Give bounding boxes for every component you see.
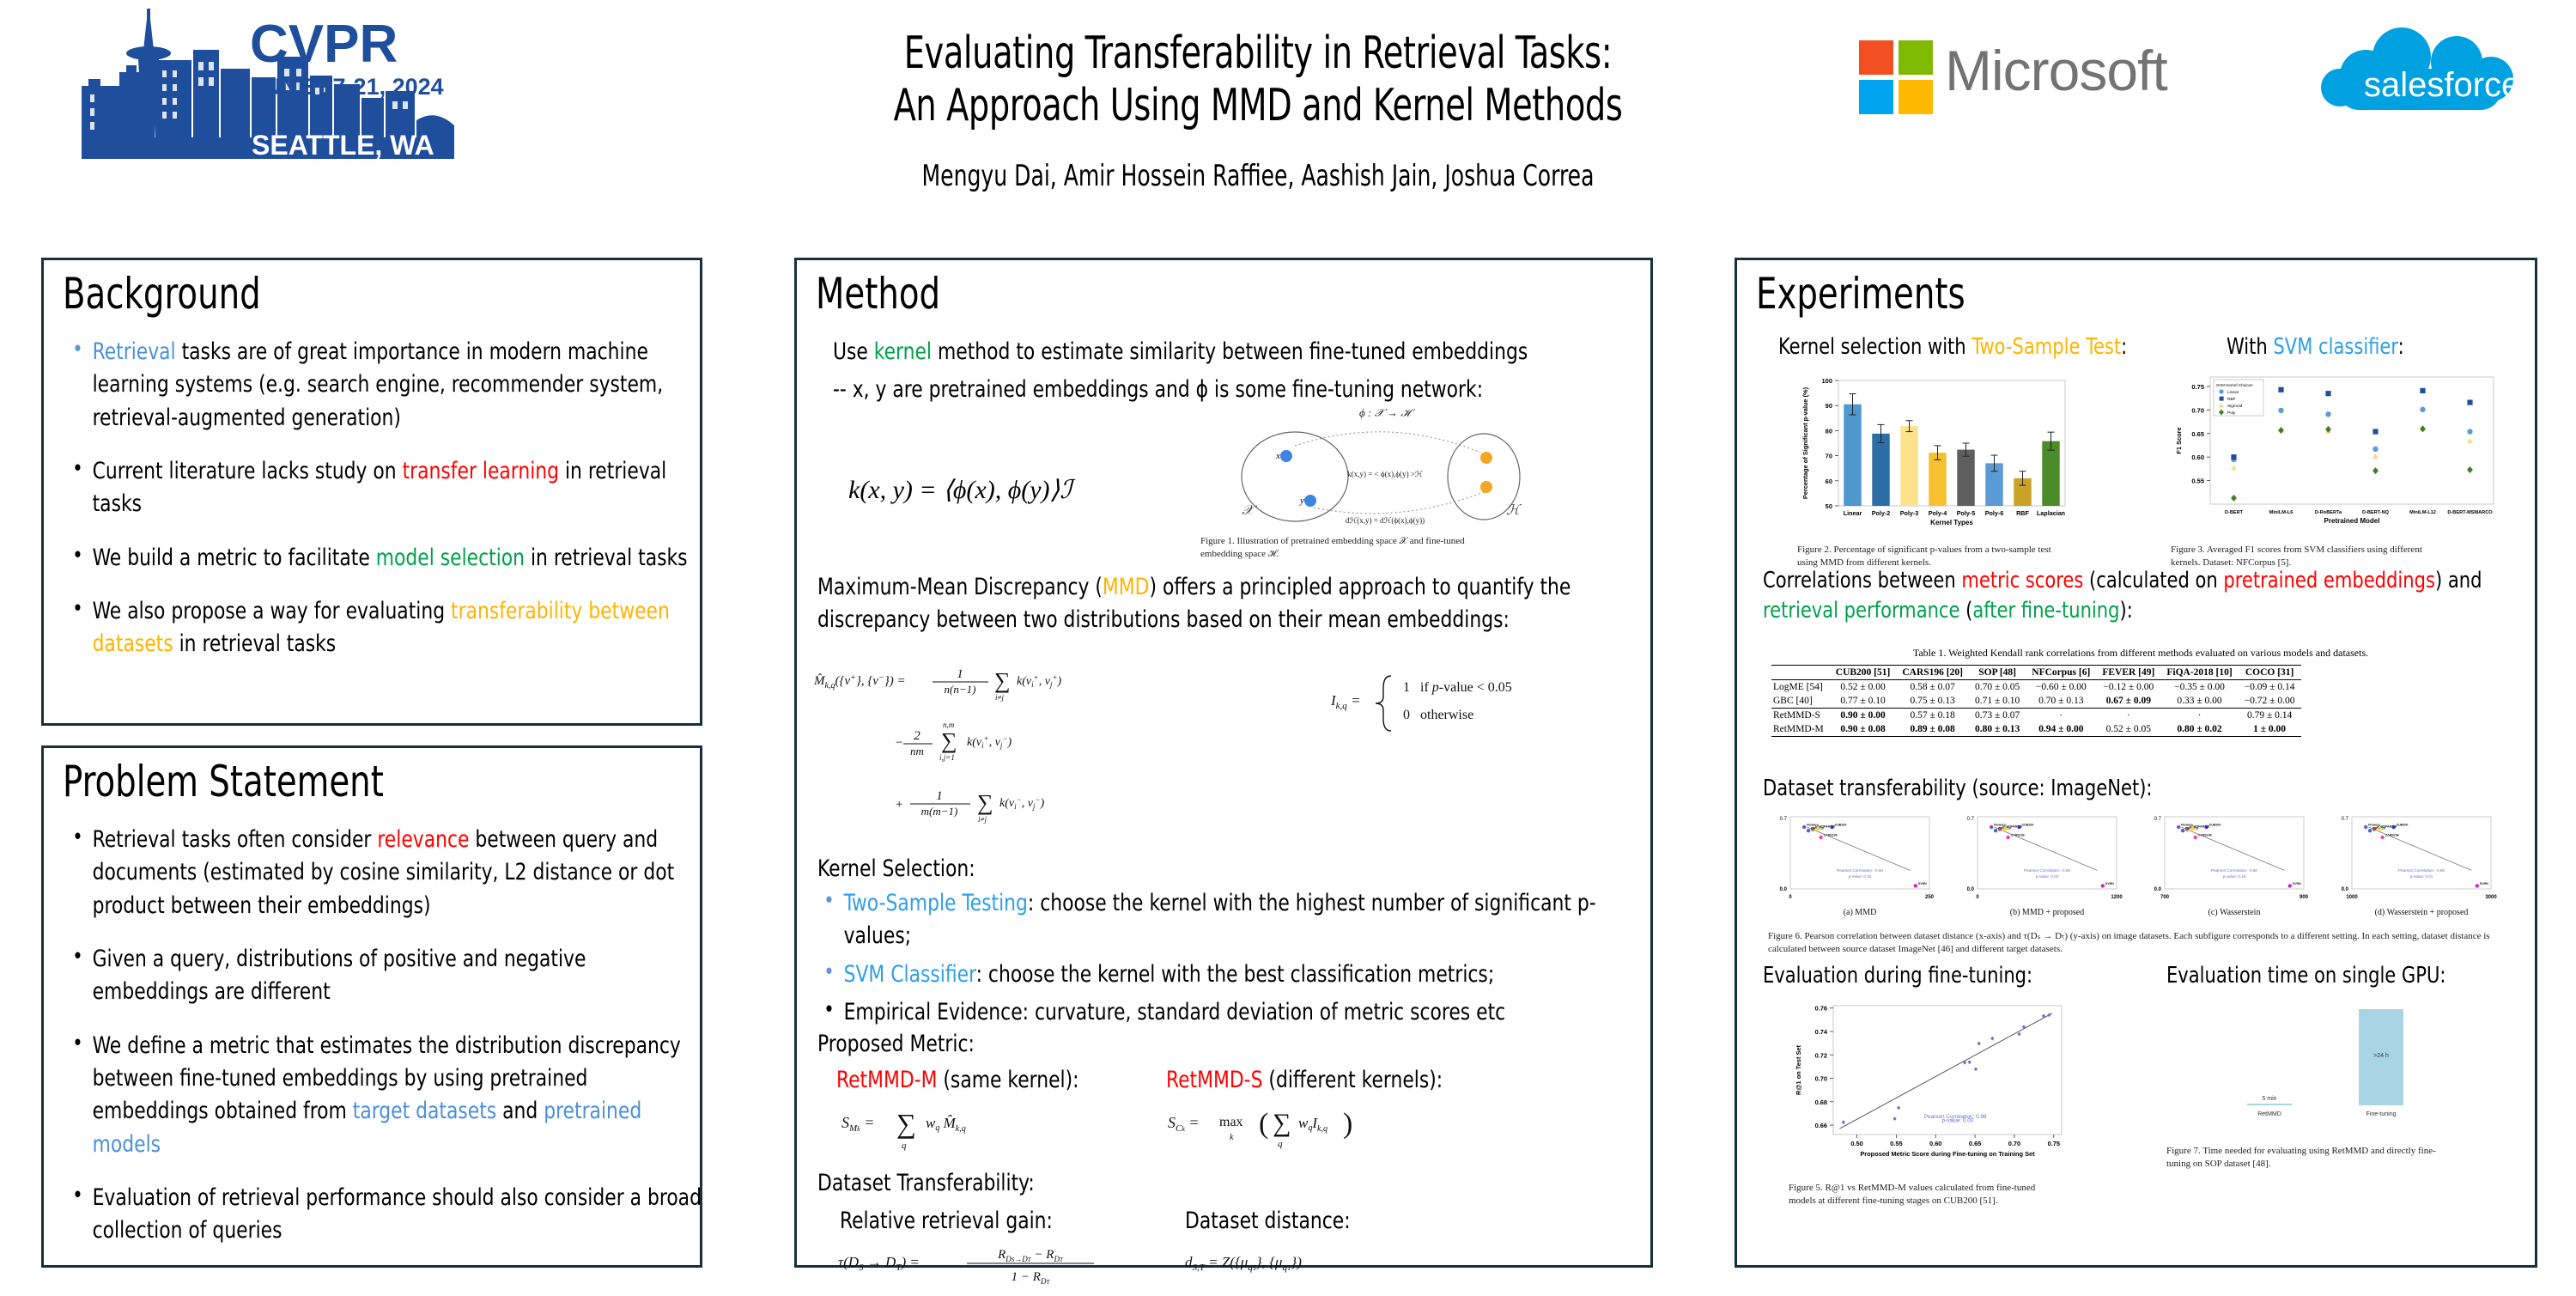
dataset-transferability-header: Dataset transferability (source: ImageNe… — [1763, 776, 2153, 801]
kernel-selection-list: Two-Sample Testing: choose the kernel wi… — [817, 887, 1652, 1029]
svg-text:5 min: 5 min — [2262, 1096, 2276, 1102]
svg-text:0.70: 0.70 — [2008, 1140, 2020, 1147]
source-point-y — [1304, 495, 1316, 507]
list-item: We build a metric to facilitate model se… — [66, 542, 700, 575]
svg-text:700: 700 — [2160, 895, 2170, 900]
svg-text:Pearson Correlation: -0.60: Pearson Correlation: -0.60 — [2211, 868, 2257, 873]
cvpr-dates: JUNE 17-21, 2024 — [252, 74, 444, 100]
svg-text:p-value: 0.01: p-value: 0.01 — [2410, 874, 2433, 879]
table-cell: 0.80 ± 0.02 — [2160, 722, 2238, 737]
table-cell: 1 ± 0.00 — [2239, 722, 2301, 737]
table-cell: 0.58 ± 0.07 — [1896, 680, 1969, 695]
mmd-paragraph: Maximum-Mean Discrepancy (MMD) offers a … — [817, 571, 1637, 637]
svg-text:0.55: 0.55 — [2191, 478, 2204, 485]
table-row-label: LogME [54] — [1771, 680, 1830, 695]
table-row-label: RetMMD-S — [1771, 709, 1830, 723]
svg-text:SCk =: SCk = — [1168, 1114, 1200, 1134]
mmd-highlight: MMD — [1103, 574, 1150, 600]
kernel-sel-label: Two-Sample Testing — [844, 890, 1028, 916]
bullet-segment: Evaluation of retrieval performance shou… — [93, 1184, 702, 1244]
inner-product-eq: k(x,y) = < ϕ(x),ϕ(y) >ℋ — [1347, 470, 1423, 478]
svg-text:q: q — [902, 1141, 907, 1151]
microsoft-wordmark: Microsoft — [1945, 38, 2167, 103]
svg-text:SVHN: SVHN — [2105, 882, 2114, 885]
bullet-segment: Given a query, distributions of positive… — [93, 946, 586, 1005]
svg-text:Poly-6: Poly-6 — [1985, 509, 2004, 517]
svg-text:m(m−1): m(m−1) — [921, 805, 958, 818]
svg-text:MiniLM-L12: MiniLM-L12 — [2409, 510, 2436, 515]
poster-authors: Mengyu Dai, Amir Hossein Raffiee, Aashis… — [839, 159, 1677, 193]
table-col-header: COCO [31] — [2239, 666, 2301, 680]
table-cell: 0.57 ± 0.18 — [1896, 709, 1969, 723]
table-cell: · — [2026, 709, 2096, 723]
svg-text:+: + — [895, 798, 903, 812]
svg-text:0.72: 0.72 — [1815, 1051, 1827, 1059]
subhead-pre: Kernel selection with — [1778, 334, 1971, 360]
svg-text:0.50: 0.50 — [1850, 1140, 1862, 1147]
kernel-sel-label: Empirical Evidence — [844, 999, 1023, 1025]
svg-text:CUB200: CUB200 — [2397, 824, 2409, 827]
bullet-segment: transfer learning — [403, 458, 559, 484]
bullet-segment: in retrieval tasks — [173, 630, 337, 657]
retmmd-s-label: RetMMD-S — [1166, 1067, 1262, 1093]
svg-text:0.0: 0.0 — [2342, 887, 2349, 892]
svg-text:0.76: 0.76 — [1815, 1005, 1827, 1013]
list-item: Retrieval tasks often consider relevance… — [66, 824, 708, 922]
cvpr-location: SEATTLE, WA — [252, 130, 434, 161]
eval-during-finetuning-header: Evaluation during fine-tuning: — [1763, 963, 2032, 989]
list-item: Given a query, distributions of positive… — [66, 943, 708, 1009]
bullet-segment: in retrieval tasks — [525, 545, 688, 571]
svg-text:>24 h: >24 h — [2373, 1053, 2389, 1059]
table-cell: · — [2096, 709, 2160, 723]
svg-text:SVM Kernel Choices: SVM Kernel Choices — [2216, 383, 2253, 387]
retmmd-m-formula: SMk = ∑ q wq M̂k,q — [840, 1098, 1063, 1159]
svg-text:SMk =: SMk = — [841, 1114, 874, 1134]
table-col-header: CARS196 [20] — [1896, 666, 1969, 680]
svg-text:RDS→DT − RDT: RDS→DT − RDT — [997, 1248, 1064, 1263]
svg-text:∑: ∑ — [896, 1108, 916, 1139]
table-cell: 0.77 ± 0.10 — [1830, 694, 1897, 709]
svg-text:Kernel Types: Kernel Types — [1930, 519, 1973, 526]
svg-text:F1 Score: F1 Score — [2175, 427, 2183, 453]
svg-text:0.65: 0.65 — [1969, 1140, 1981, 1147]
kendall-correlation-table: CUB200 [51]CARS196 [20]SOP [48]NFCorpus … — [1771, 665, 2301, 737]
svg-text:0: 0 — [1976, 895, 1979, 900]
table-cell: 0.89 ± 0.08 — [1896, 722, 1969, 737]
svg-text:0.68: 0.68 — [1815, 1098, 1827, 1106]
intro-pre: Use — [833, 338, 874, 365]
list-item: SVM Classifier: choose the kernel with t… — [817, 958, 1652, 991]
table-cell: 0.71 ± 0.10 — [1969, 694, 2026, 709]
table-row-label: RetMMD-M — [1771, 722, 1830, 737]
cvpr-logo: CVPR JUNE 17-21, 2024 SEATTLE, WA — [47, 9, 459, 167]
source-space-label: 𝒳 — [1242, 503, 1258, 518]
svg-text:Laplacian: Laplacian — [2037, 509, 2065, 517]
microsoft-logo: Microsoft — [1859, 36, 2224, 118]
kernel-highlight: kernel — [874, 338, 932, 365]
subhead-svm-classifier: With SVM classifier: — [2227, 334, 2404, 360]
retmmd-m-suffix: (same kernel): — [937, 1067, 1078, 1093]
svg-text:p-value: 0.15: p-value: 0.15 — [2223, 874, 2246, 879]
bullet-segment: Retrieval — [93, 338, 176, 365]
svg-text:SVHN: SVHN — [2293, 882, 2301, 885]
relative-gain-title: Relative retrieval gain: — [840, 1208, 1053, 1234]
salesforce-wordmark: salesforce — [2364, 66, 2520, 104]
corr-mid2: ) and — [2435, 568, 2482, 593]
mmd-formula: M̂k,q({v+}, {v−}) = 1 n(n−1) ∑ i≠j k(vi+… — [812, 664, 1259, 840]
retmmd-s-formula: SCk = max k ( ∑ q wqIk,q ) — [1166, 1098, 1415, 1159]
svg-text:90: 90 — [1826, 402, 1832, 410]
svg-text:max: max — [1219, 1115, 1243, 1129]
bullet-segment: tasks are of great importance in modern … — [93, 338, 664, 431]
subhead-post: : — [2398, 334, 2404, 360]
svg-text:0.7: 0.7 — [2154, 817, 2162, 822]
poster-header: CVPR JUNE 17-21, 2024 SEATTLE, WA Evalua… — [0, 0, 2576, 249]
panel-background: Background Retrieval tasks are of great … — [41, 258, 702, 726]
bullet-segment: and — [496, 1098, 544, 1124]
svg-text:k(vi−, vj−): k(vi−, vj−) — [999, 795, 1045, 811]
svg-text:0.74: 0.74 — [1815, 1028, 1828, 1036]
svg-text:Linear: Linear — [2227, 390, 2239, 395]
kernel-formula: k(x, y) = ⟨ϕ(x), ϕ(y)⟩ℐ — [848, 475, 1072, 505]
method-title: Method — [816, 269, 940, 319]
svg-text:∑: ∑ — [941, 728, 957, 753]
svg-text:100: 100 — [1821, 377, 1832, 385]
poster-title-line2: An Approach Using MMD and Kernel Methods — [839, 80, 1677, 132]
table-cell: −0.72 ± 0.00 — [2239, 694, 2301, 709]
svg-text:0.60: 0.60 — [1929, 1140, 1941, 1147]
figure-1-caption: Figure 1. Illustration of pretrained emb… — [1200, 535, 1492, 561]
corr-mid3: ( — [1959, 598, 1972, 624]
svg-text:∑: ∑ — [1273, 1109, 1291, 1137]
distance-eq: dℋ(x,y) = dℋ(ϕ(x),ϕ(y)) — [1346, 516, 1425, 525]
mmd-lhs: M̂k,q({v+}, {v−}) = — [813, 673, 906, 691]
svg-text:1: 1 — [957, 667, 963, 681]
kernel-selection-title: Kernel Selection: — [817, 853, 1637, 885]
dataset-distance-title: Dataset distance: — [1185, 1208, 1351, 1234]
svg-text:SVHN: SVHN — [2480, 882, 2488, 885]
svg-text:(: ( — [1259, 1108, 1268, 1140]
svg-text:0.75: 0.75 — [2048, 1140, 2060, 1147]
svg-text:i≠j: i≠j — [995, 693, 1004, 702]
svg-text:q: q — [1278, 1139, 1283, 1149]
mmd-pre: Maximum-Mean Discrepancy ( — [817, 574, 1103, 600]
svg-text:Poly: Poly — [2227, 411, 2236, 416]
salesforce-logo: salesforce — [2306, 26, 2563, 125]
svg-text:CUB200: CUB200 — [2209, 824, 2221, 827]
svg-text:80: 80 — [1826, 427, 1832, 435]
svg-text:3000: 3000 — [2485, 895, 2497, 900]
svg-text:RBF: RBF — [2016, 509, 2029, 517]
table-row-label: GBC [40] — [1771, 694, 1830, 709]
title-block: Evaluating Transferability in Retrieval … — [747, 27, 1769, 193]
subhead-two-sample-test: Kernel selection with Two-Sample Test: — [1778, 334, 2127, 360]
svg-text:R@1 on Test Set: R@1 on Test Set — [1795, 1044, 1802, 1095]
experiments-title: Experiments — [1756, 269, 1965, 319]
svg-text:0.0: 0.0 — [2154, 887, 2162, 892]
svg-text:D-BERT-NQ: D-BERT-NQ — [2362, 510, 2390, 515]
svg-text:CUB200: CUB200 — [1835, 824, 1847, 827]
svg-text:Poly-5: Poly-5 — [1957, 509, 1976, 517]
eval-time-header: Evaluation time on single GPU: — [2166, 963, 2445, 989]
svg-text:Fine-tuning: Fine-tuning — [2366, 1111, 2396, 1117]
svg-text:250: 250 — [1925, 895, 1935, 900]
svg-text:0.60: 0.60 — [2191, 453, 2204, 461]
svg-text:Poly-4: Poly-4 — [1929, 509, 1947, 517]
svg-text:x: x — [1275, 451, 1280, 461]
retrieval-performance-highlight: retrieval performance — [1763, 598, 1959, 624]
svg-text:k(vi+, vj+): k(vi+, vj+) — [1017, 673, 1062, 689]
svg-text:900: 900 — [2300, 895, 2309, 900]
svg-text:(a) MMD: (a) MMD — [1844, 908, 1877, 917]
indicator-formula: Ik,q = 1 if p-value < 0.05 0 otherwise — [1329, 666, 1613, 747]
table-cell: −0.12 ± 0.00 — [2096, 680, 2160, 695]
svg-text:n,m: n,m — [943, 721, 955, 729]
list-item: Two-Sample Testing: choose the kernel wi… — [817, 887, 1652, 953]
svg-text:i≠j: i≠j — [978, 815, 987, 824]
correlations-header: Correlations between metric scores (calc… — [1763, 566, 2543, 626]
retmmd-m-label: RetMMD-M — [836, 1067, 937, 1093]
svg-text:(c) Wasserstein: (c) Wasserstein — [2208, 908, 2261, 917]
table-cell: 0.33 ± 0.00 — [2160, 694, 2238, 709]
corr-mid1: (calculated on — [2083, 568, 2223, 593]
svg-text:70: 70 — [1826, 453, 1832, 460]
figure-7-bar: 5 min>24 hRetMMDFine-tuning Figure 7. Ti… — [2166, 995, 2510, 1171]
target-point-2 — [1480, 481, 1492, 493]
retmmd-s-suffix: (different kernels): — [1262, 1067, 1443, 1093]
table-cell: 0.70 ± 0.05 — [1969, 680, 2026, 695]
indicator-lhs: Ik,q = — [1330, 692, 1361, 711]
table-cell: 0.52 ± 0.05 — [2096, 722, 2160, 737]
list-item: We also propose a way for evaluating tra… — [66, 595, 700, 661]
table-cell: −0.09 ± 0.14 — [2239, 680, 2301, 695]
subhead-post: : — [2121, 334, 2127, 360]
svg-text:0.70: 0.70 — [2191, 406, 2204, 414]
svg-text:nm: nm — [910, 745, 924, 758]
table-cell: 0.79 ± 0.14 — [2239, 709, 2301, 723]
svg-text:Pearson Correlation: -0.60: Pearson Correlation: -0.60 — [1837, 868, 1883, 873]
svg-text:0: 0 — [1789, 895, 1792, 900]
svg-text:y: y — [1299, 496, 1304, 506]
bullet-segment: target datasets — [353, 1098, 496, 1124]
pretrained-embeddings-highlight: pretrained embeddings — [2223, 568, 2435, 593]
svg-text:1000: 1000 — [2346, 895, 2358, 900]
svg-text:RBF: RBF — [2227, 397, 2236, 402]
svg-text:Pearson Correlation: -0.86: Pearson Correlation: -0.86 — [2398, 868, 2445, 873]
svg-text:dS,T = Z({μqS}, {μqT}): dS,T = Z({μqS}, {μqT}) — [1185, 1254, 1302, 1273]
svg-text:p-value: 0.00: p-value: 0.00 — [1941, 1118, 1973, 1124]
svg-text:wq M̂k,q: wq M̂k,q — [926, 1115, 966, 1134]
svg-text:Sigmoid: Sigmoid — [2227, 404, 2243, 409]
table-cell: 0.90 ± 0.08 — [1830, 722, 1897, 737]
table-row: RetMMD-S0.90 ± 0.000.57 ± 0.180.73 ± 0.0… — [1771, 709, 2301, 723]
panel-problem-statement: Problem Statement Retrieval tasks often … — [41, 745, 702, 1268]
table-col-header: FEVER [49] — [2096, 666, 2160, 680]
table-col-header: SOP [48] — [1969, 666, 2026, 680]
svg-text:MiniLM-L6: MiniLM-L6 — [2269, 510, 2293, 515]
figure-5-scatter: 0.660.680.700.720.740.760.500.550.600.65… — [1789, 995, 2072, 1208]
svg-text:0.7: 0.7 — [2342, 817, 2349, 822]
svg-text:0.66: 0.66 — [1815, 1122, 1827, 1129]
svg-text:Pretrained Model: Pretrained Model — [2324, 517, 2380, 525]
bullet-segment: We build a metric to facilitate — [93, 545, 376, 571]
svg-text:0.70: 0.70 — [1815, 1075, 1827, 1083]
table-1-block: Table 1. Weighted Kendall rank correlati… — [1771, 647, 2510, 737]
table-cell: −0.35 ± 0.00 — [2160, 680, 2238, 695]
table-col-header: NFCorpus [6] — [2026, 666, 2096, 680]
table-col-header — [1771, 666, 1830, 680]
background-bullet-list: Retrieval tasks are of great importance … — [66, 336, 700, 661]
svg-text:Percentage of Significant p-va: Percentage of Significant p-value (%) — [1801, 386, 1809, 499]
svg-text:60: 60 — [1826, 478, 1832, 485]
subhead-pre: With — [2227, 334, 2273, 360]
svg-text:SVHN: SVHN — [1918, 882, 1927, 885]
svg-text:1200: 1200 — [2111, 895, 2123, 900]
table-cell: 0.52 ± 0.00 — [1830, 680, 1897, 695]
list-item: Empirical Evidence: curvature, standard … — [817, 996, 1652, 1029]
corr-pre: Correlations between — [1763, 568, 1961, 593]
method-intro-line1: Use kernel method to estimate similarity… — [833, 336, 1652, 368]
svg-text:0.75: 0.75 — [2191, 383, 2204, 391]
svg-text:RetMMD: RetMMD — [2257, 1111, 2281, 1117]
figure-7-caption: Figure 7. Time needed for evaluating usi… — [2166, 1145, 2450, 1171]
svg-text:p-value: 0.15: p-value: 0.15 — [1849, 874, 1872, 879]
figure-6-panels: 0.70.00250SOPFlowersCIFAR10CIFAR100CUB20… — [1768, 806, 2506, 956]
figure-2-bar-chart: 5060708090100LinearPoly-2Poly-3Poly-4Pol… — [1797, 368, 2072, 569]
indicator-case-1: 1 if p-value < 0.05 — [1403, 680, 1512, 695]
svg-text:CUB200: CUB200 — [2022, 824, 2034, 827]
table-col-header: FiQA-2018 [10] — [2160, 666, 2238, 680]
target-space-label: ℋ — [1506, 503, 1522, 518]
proposed-metric-title: Proposed Metric: — [817, 1031, 975, 1057]
background-title: Background — [63, 269, 261, 319]
svg-text:Proposed Metric Score during F: Proposed Metric Score during Fine-tuning… — [1860, 1150, 2035, 1158]
dataset-transferability-title: Dataset Transferability: — [817, 1170, 1035, 1196]
table-cell: 0.75 ± 0.13 — [1896, 694, 1969, 709]
svg-text:wqIk,q: wqIk,q — [1298, 1115, 1327, 1134]
problem-title: Problem Statement — [63, 757, 384, 806]
table-cell: 0.73 ± 0.07 — [1969, 709, 2026, 723]
metric-scores-highlight: metric scores — [1961, 568, 2083, 593]
table-cell: 0.94 ± 0.00 — [2026, 722, 2096, 737]
svg-text:i,j=1: i,j=1 — [939, 753, 955, 762]
svg-text:0.0: 0.0 — [1967, 887, 1975, 892]
svg-text:2: 2 — [914, 729, 920, 743]
svg-text:1 − RDT: 1 − RDT — [1012, 1270, 1051, 1286]
relative-gain-formula: τ(DS → DT) = RDS→DT − RDT 1 − RDT — [836, 1236, 1120, 1296]
bullet-segment: Retrieval tasks often consider — [93, 826, 378, 853]
table-cell: 0.80 ± 0.13 — [1969, 722, 2026, 737]
svg-text:0.7: 0.7 — [1780, 817, 1788, 822]
svg-text:k: k — [1230, 1133, 1234, 1142]
bullet-segment: model selection — [376, 545, 525, 571]
table-cell: 0.90 ± 0.00 — [1830, 709, 1897, 723]
svg-text:−: − — [895, 736, 903, 750]
list-item: Retrieval tasks are of great importance … — [66, 336, 700, 435]
phi-map-label: ϕ : 𝒳 → ℋ — [1359, 406, 1415, 419]
svg-text:(b) MMD + proposed: (b) MMD + proposed — [2010, 908, 2084, 917]
table-row: GBC [40]0.77 ± 0.100.75 ± 0.130.71 ± 0.1… — [1771, 694, 2301, 709]
list-item: Current literature lacks study on transf… — [66, 455, 700, 521]
svg-text:k(vi+, vj−): k(vi+, vj−) — [967, 734, 1012, 750]
indicator-case-2: 0 otherwise — [1403, 708, 1473, 722]
svg-text:(d) Wasserstein + proposed: (d) Wasserstein + proposed — [2375, 908, 2469, 917]
svg-text:50: 50 — [1826, 502, 1832, 510]
svm-classifier-highlight: SVM classifier — [2273, 334, 2397, 360]
table-row: LogME [54]0.52 ± 0.000.58 ± 0.070.70 ± 0… — [1771, 680, 2301, 695]
figure-6-caption: Figure 6. Pearson correlation between da… — [1768, 930, 2498, 956]
svg-text:0.0: 0.0 — [1780, 887, 1788, 892]
kernel-sel-label: SVM Classifier — [844, 961, 976, 988]
svg-text:1: 1 — [936, 789, 943, 803]
table-1-caption: Table 1. Weighted Kendall rank correlati… — [1771, 647, 2510, 660]
table-col-header: CUB200 [51] — [1830, 666, 1897, 680]
svg-text:∑: ∑ — [994, 668, 1011, 693]
svg-text:): ) — [1343, 1108, 1352, 1140]
source-point-x — [1280, 450, 1292, 462]
table-cell: 0.67 ± 0.09 — [2096, 694, 2160, 709]
svg-text:Pearson Correlation: -0.85: Pearson Correlation: -0.85 — [2024, 868, 2070, 873]
dataset-distance-formula: dS,T = Z({μqS}, {μqT}) — [1183, 1239, 1441, 1291]
method-intro-line2: -- x, y are pretrained embeddings and ϕ … — [833, 374, 1652, 406]
microsoft-squares-icon — [1859, 40, 1933, 114]
svg-text:D-BERT-MSMARCO: D-BERT-MSMARCO — [2447, 510, 2493, 515]
problem-bullet-list: Retrieval tasks often consider relevance… — [66, 824, 708, 1248]
svg-text:Linear: Linear — [1844, 509, 1862, 517]
svg-text:∑: ∑ — [977, 790, 993, 815]
panel-method: Method Use kernel method to estimate sim… — [794, 258, 1653, 1268]
table-cell: 0.70 ± 0.13 — [2026, 694, 2096, 709]
two-sample-test-highlight: Two-Sample Test — [1971, 334, 2121, 360]
list-item: We define a metric that estimates the di… — [66, 1030, 708, 1161]
svg-text:τ(DS → DT) =: τ(DS → DT) = — [838, 1254, 920, 1273]
kernel-sel-rest: : curvature, standard deviation of metri… — [1023, 999, 1506, 1025]
intro-post: method to estimate similarity between fi… — [932, 338, 1528, 365]
poster-title-line1: Evaluating Transferability in Retrieval … — [839, 27, 1677, 80]
svg-text:0.55: 0.55 — [1890, 1140, 1902, 1147]
svg-text:0.7: 0.7 — [1967, 817, 1975, 822]
svg-text:Poly-3: Poly-3 — [1900, 509, 1919, 517]
figure-3-scatter-chart: 0.550.600.650.700.75D-BERTMiniLM-L6D-RoB… — [2171, 368, 2506, 569]
table-row: RetMMD-M0.90 ± 0.080.89 ± 0.080.80 ± 0.1… — [1771, 722, 2301, 737]
svg-text:D-RoBERTa: D-RoBERTa — [2315, 510, 2342, 515]
target-point-1 — [1480, 452, 1492, 464]
svg-text:D-BERT: D-BERT — [2225, 510, 2244, 515]
panel-experiments: Experiments Kernel selection with Two-Sa… — [1735, 258, 2537, 1268]
bullet-segment: We also propose a way for evaluating — [93, 598, 451, 624]
bullet-segment: relevance — [377, 826, 469, 853]
svg-text:Poly-2: Poly-2 — [1872, 509, 1891, 517]
bullet-segment: Current literature lacks study on — [93, 458, 403, 484]
corr-post: ): — [2119, 598, 2132, 624]
table-cell: −0.60 ± 0.00 — [2026, 680, 2096, 695]
figure-1: ϕ : 𝒳 → ℋ x y k(x,y) = < ϕ(x),ϕ(y) >ℋ dℋ… — [1200, 405, 1578, 533]
table-cell: · — [2160, 709, 2238, 723]
list-item: Evaluation of retrieval performance shou… — [66, 1182, 708, 1248]
figure-5-caption: Figure 5. R@1 vs RetMMD-M values calcula… — [1789, 1182, 2063, 1208]
cvpr-wordmark: CVPR — [250, 15, 398, 74]
svg-text:n(n−1): n(n−1) — [945, 683, 976, 696]
after-finetuning-highlight: after fine-tuning — [1972, 598, 2119, 624]
kernel-sel-rest: : choose the kernel with the best classi… — [976, 961, 1495, 988]
svg-text:0.65: 0.65 — [2191, 430, 2204, 438]
svg-text:p-value: 0.02: p-value: 0.02 — [2036, 874, 2059, 879]
